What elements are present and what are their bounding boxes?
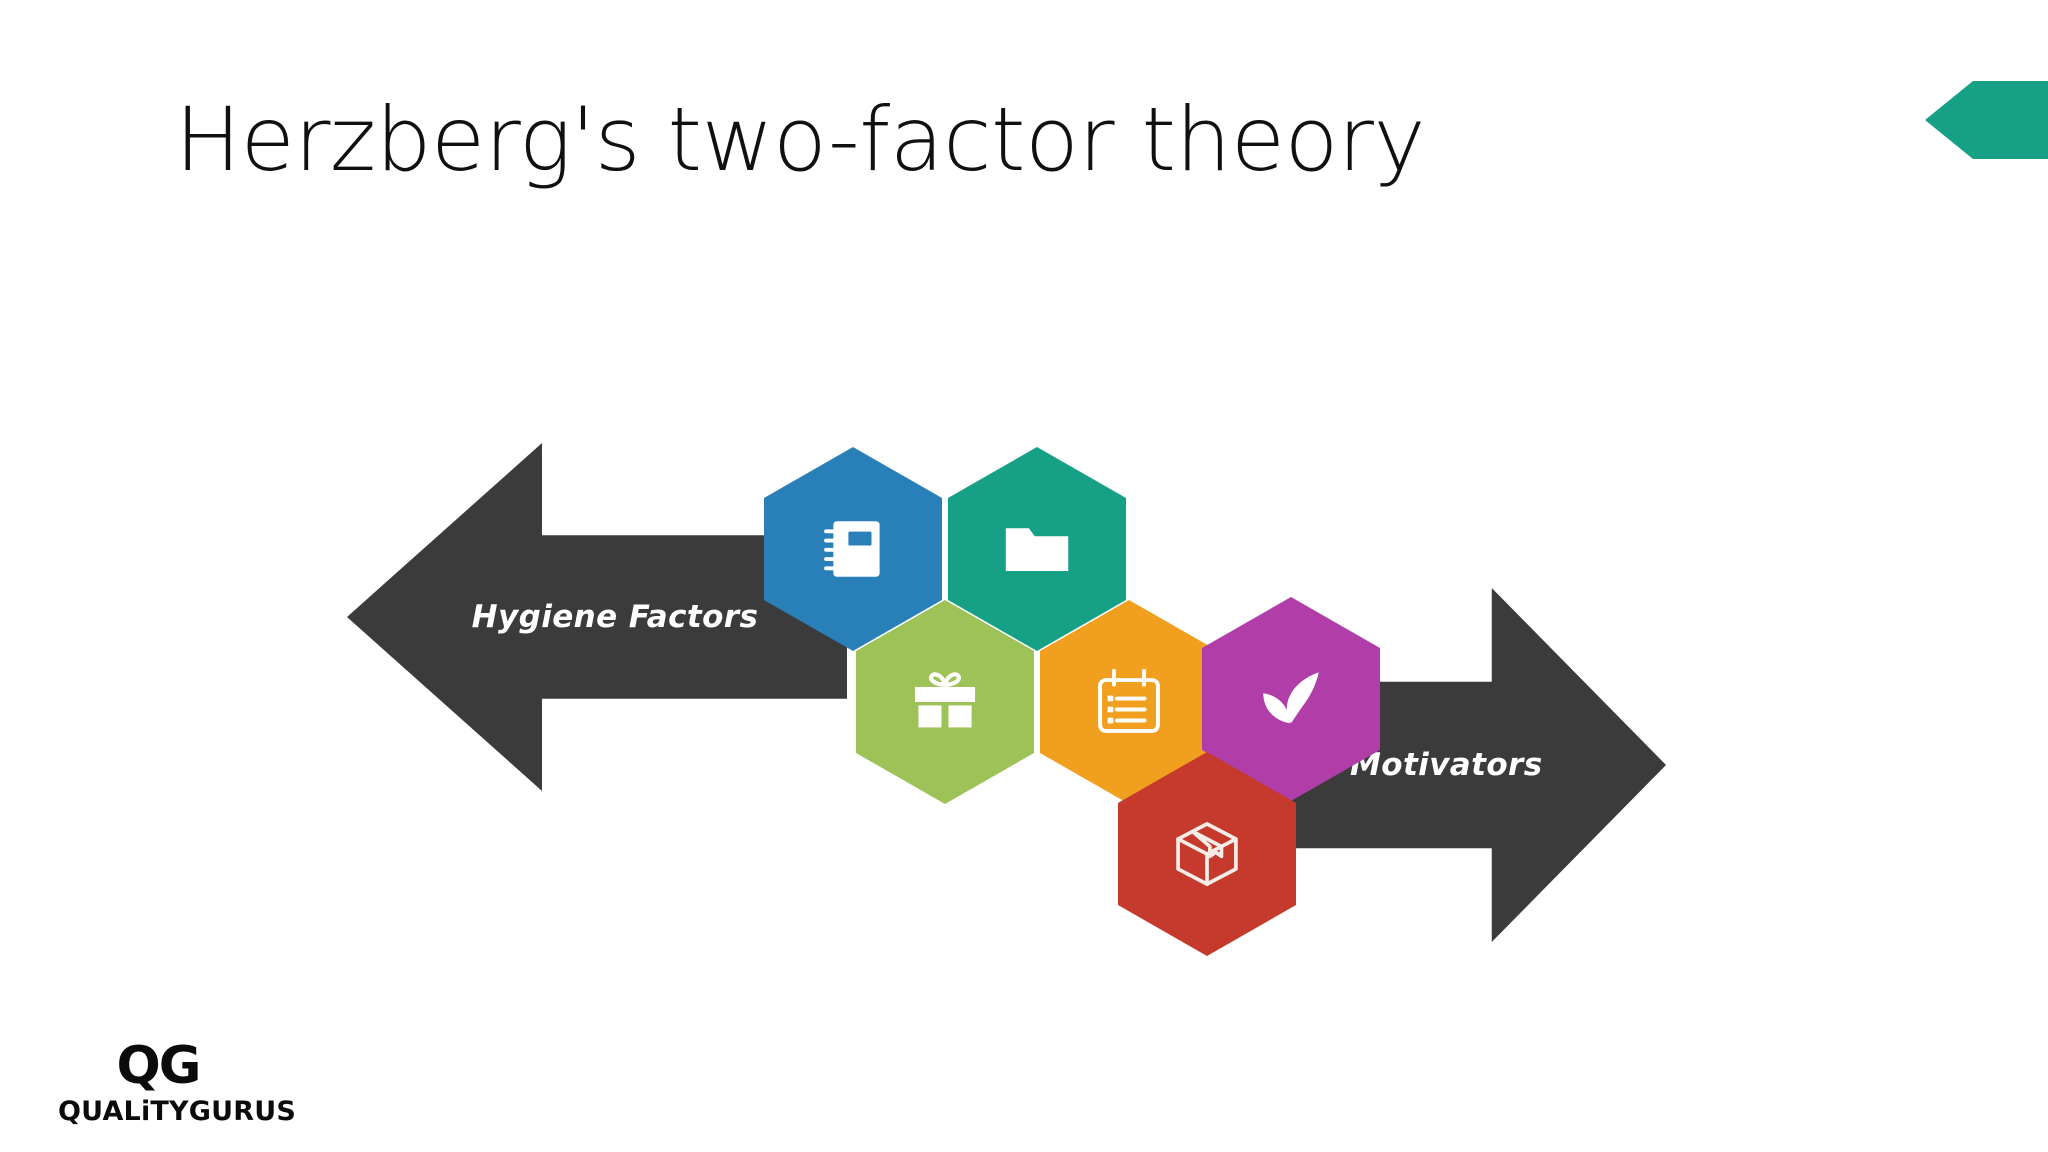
checklist-icon (1092, 665, 1166, 739)
hygiene-factors-label: Hygiene Factors (472, 599, 759, 635)
package-box-icon (1170, 817, 1244, 891)
logo-monogram: QG (86, 1040, 231, 1092)
slide-canvas: Herzberg's two-factor theory Hygiene Fac… (0, 0, 2048, 1152)
logo-wordmark: QUALiTYGURUS (58, 1098, 258, 1125)
folder-icon (1000, 512, 1074, 586)
two-factor-diagram: Hygiene Factors Motivators (0, 0, 2048, 1152)
quality-gurus-logo: QG QUALiTYGURUS (58, 1040, 258, 1132)
leaf-icon (1254, 662, 1328, 736)
gift-icon (908, 665, 982, 739)
notebook-icon (816, 512, 890, 586)
motivators-label: Motivators (1350, 747, 1543, 783)
